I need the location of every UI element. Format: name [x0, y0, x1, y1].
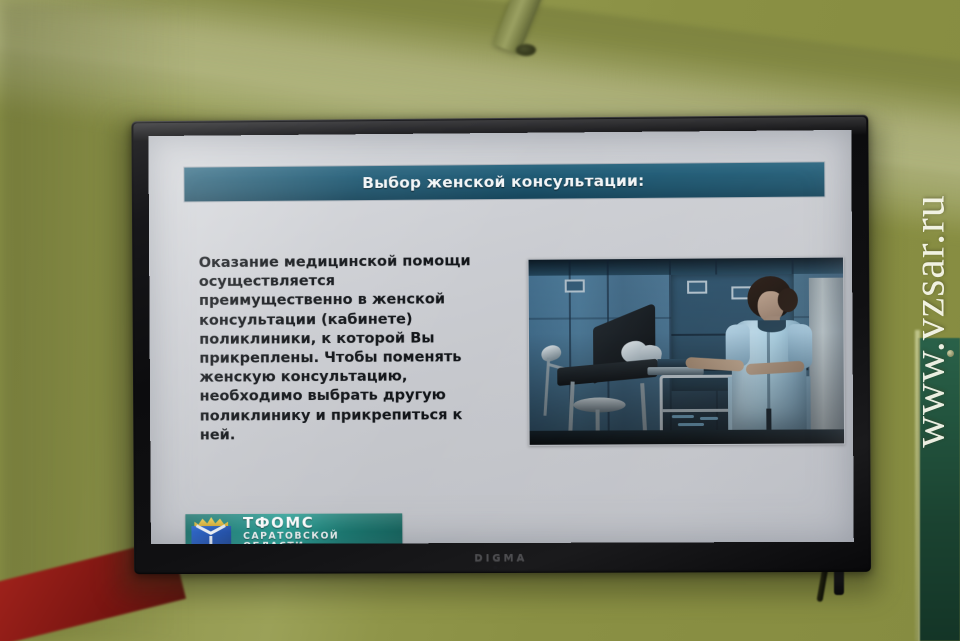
room-scene: DIGMA Выбор женской консультации: Оказан… [0, 0, 960, 641]
slide-body-text: Оказание медицинской помощи осуществляет… [199, 251, 489, 444]
slide-title-text: Выбор женской консультации: [362, 172, 644, 192]
logo-text-block: ТФОМС САРАТОВСКОЙ ОБЛАСТИ [237, 516, 339, 545]
tv-power-led-icon [493, 566, 497, 569]
site-watermark: www.vzsar.ru [904, 194, 955, 448]
logo-line-1: ТФОМС [243, 516, 339, 532]
tv-screen: Выбор женской консультации: Оказание мед… [148, 130, 853, 544]
slide-photo [528, 257, 846, 446]
photo-shading [529, 258, 845, 445]
tfoms-logo-bar: ТФОМС САРАТОВСКОЙ ОБЛАСТИ [185, 513, 402, 544]
television: DIGMA Выбор женской консультации: Оказан… [131, 118, 868, 573]
tv-brand-label: DIGMA [474, 553, 527, 564]
slide-title-bar: Выбор женской консультации: [183, 161, 825, 202]
ceiling-pipe-cap [516, 44, 536, 56]
sterlet-fish-icon [209, 536, 212, 544]
saratov-coat-of-arms-icon [185, 514, 237, 544]
